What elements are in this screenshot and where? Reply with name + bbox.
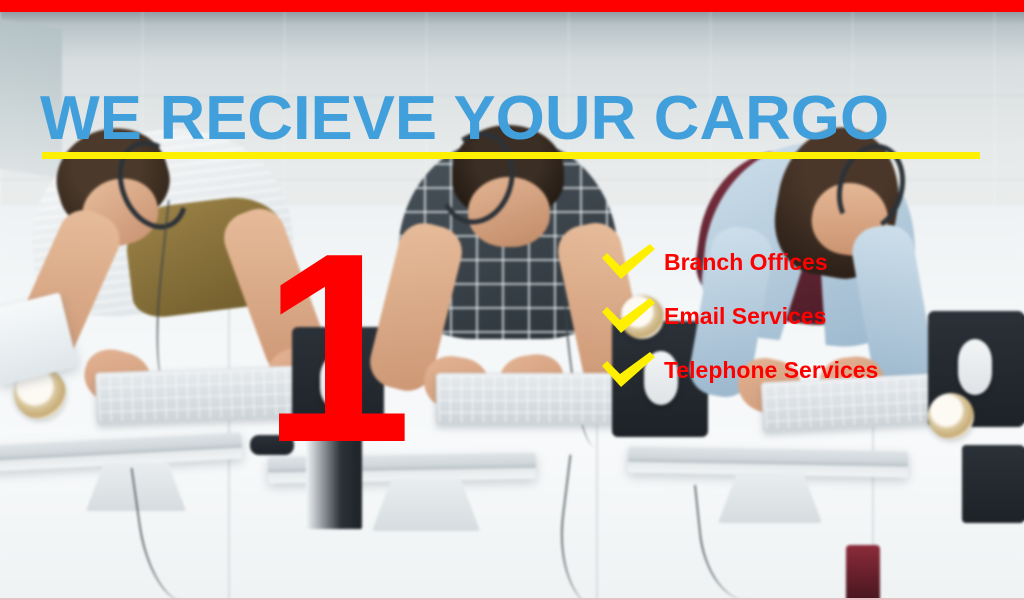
list-item[interactable]: Telephone Services <box>600 356 1000 384</box>
list-item-label: Email Services <box>664 305 826 328</box>
page-title: WE RECIEVE YOUR CARGO <box>40 88 1007 150</box>
list-item[interactable]: Branch Offices <box>600 248 1000 276</box>
feature-list: Branch Offices Email Services Telephone … <box>600 248 1000 410</box>
list-item[interactable]: Email Services <box>600 302 1000 330</box>
check-icon <box>600 296 658 336</box>
title-underline-rule <box>42 152 980 159</box>
overlay-layer: WE RECIEVE YOUR CARGO 1 Branch Offices E… <box>0 0 1024 600</box>
list-item-label: Branch Offices <box>664 251 828 274</box>
step-number: 1 <box>262 214 404 484</box>
check-icon <box>600 242 658 282</box>
slide-root: WE RECIEVE YOUR CARGO 1 Branch Offices E… <box>0 0 1024 600</box>
top-red-bar <box>0 0 1024 12</box>
check-icon <box>600 350 658 390</box>
list-item-label: Telephone Services <box>664 359 878 382</box>
